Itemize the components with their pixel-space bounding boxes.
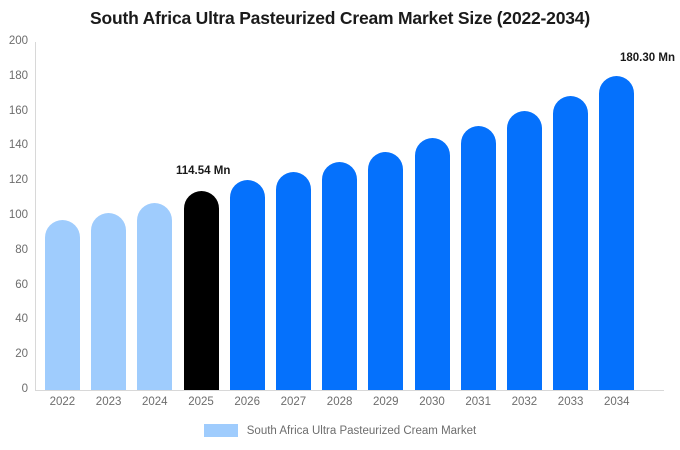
bar-2023[interactable] [91,213,126,390]
y-axis-tick-label: 100 [0,210,28,222]
bar-2033[interactable] [553,96,588,390]
bar-2031[interactable] [461,126,496,390]
x-axis-tick-label: 2026 [224,396,270,408]
x-axis-tick-label: 2022 [39,396,85,408]
bar-2032[interactable] [507,111,542,390]
x-axis-tick-label: 2034 [594,396,640,408]
y-axis-tick-label: 80 [0,245,28,257]
y-axis-tick-label: 60 [0,280,28,292]
data-label-2034: 180.30 Mn [620,52,675,64]
x-axis-tick-label: 2023 [86,396,132,408]
bar-2028[interactable] [322,162,357,390]
bar-chart: South Africa Ultra Pasteurized Cream Mar… [0,0,680,450]
y-axis-tick-label: 200 [0,36,28,48]
chart-legend: South Africa Ultra Pasteurized Cream Mar… [0,424,680,437]
x-axis-tick-label: 2029 [363,396,409,408]
bar-2026[interactable] [230,180,265,390]
y-axis-tick-label: 160 [0,106,28,118]
bar-2030[interactable] [415,138,450,390]
x-axis-tick-label: 2033 [548,396,594,408]
x-axis-tick-label: 2025 [178,396,224,408]
x-axis-tick-label: 2027 [270,396,316,408]
x-axis-tick-label: 2024 [132,396,178,408]
x-axis-line [35,390,664,391]
bar-2027[interactable] [276,172,311,390]
x-axis-tick-label: 2030 [409,396,455,408]
bar-2022[interactable] [45,220,80,390]
plot-area [36,42,664,390]
y-axis-tick-label: 0 [0,384,28,396]
x-axis-tick-label: 2028 [317,396,363,408]
y-axis-tick-label: 40 [0,314,28,326]
x-axis-tick-label: 2032 [501,396,547,408]
y-axis-tick-label: 20 [0,349,28,361]
bar-2029[interactable] [368,152,403,390]
legend-swatch-icon [204,424,238,437]
legend-label: South Africa Ultra Pasteurized Cream Mar… [247,425,476,437]
y-axis-tick-label: 180 [0,71,28,83]
x-axis-tick-label: 2031 [455,396,501,408]
data-label-2025: 114.54 Mn [176,165,230,177]
y-axis-tick-label: 120 [0,175,28,187]
y-axis-tick-label: 140 [0,140,28,152]
bar-2025[interactable] [184,191,219,390]
bar-2024[interactable] [137,203,172,390]
bar-2034[interactable] [599,76,634,390]
